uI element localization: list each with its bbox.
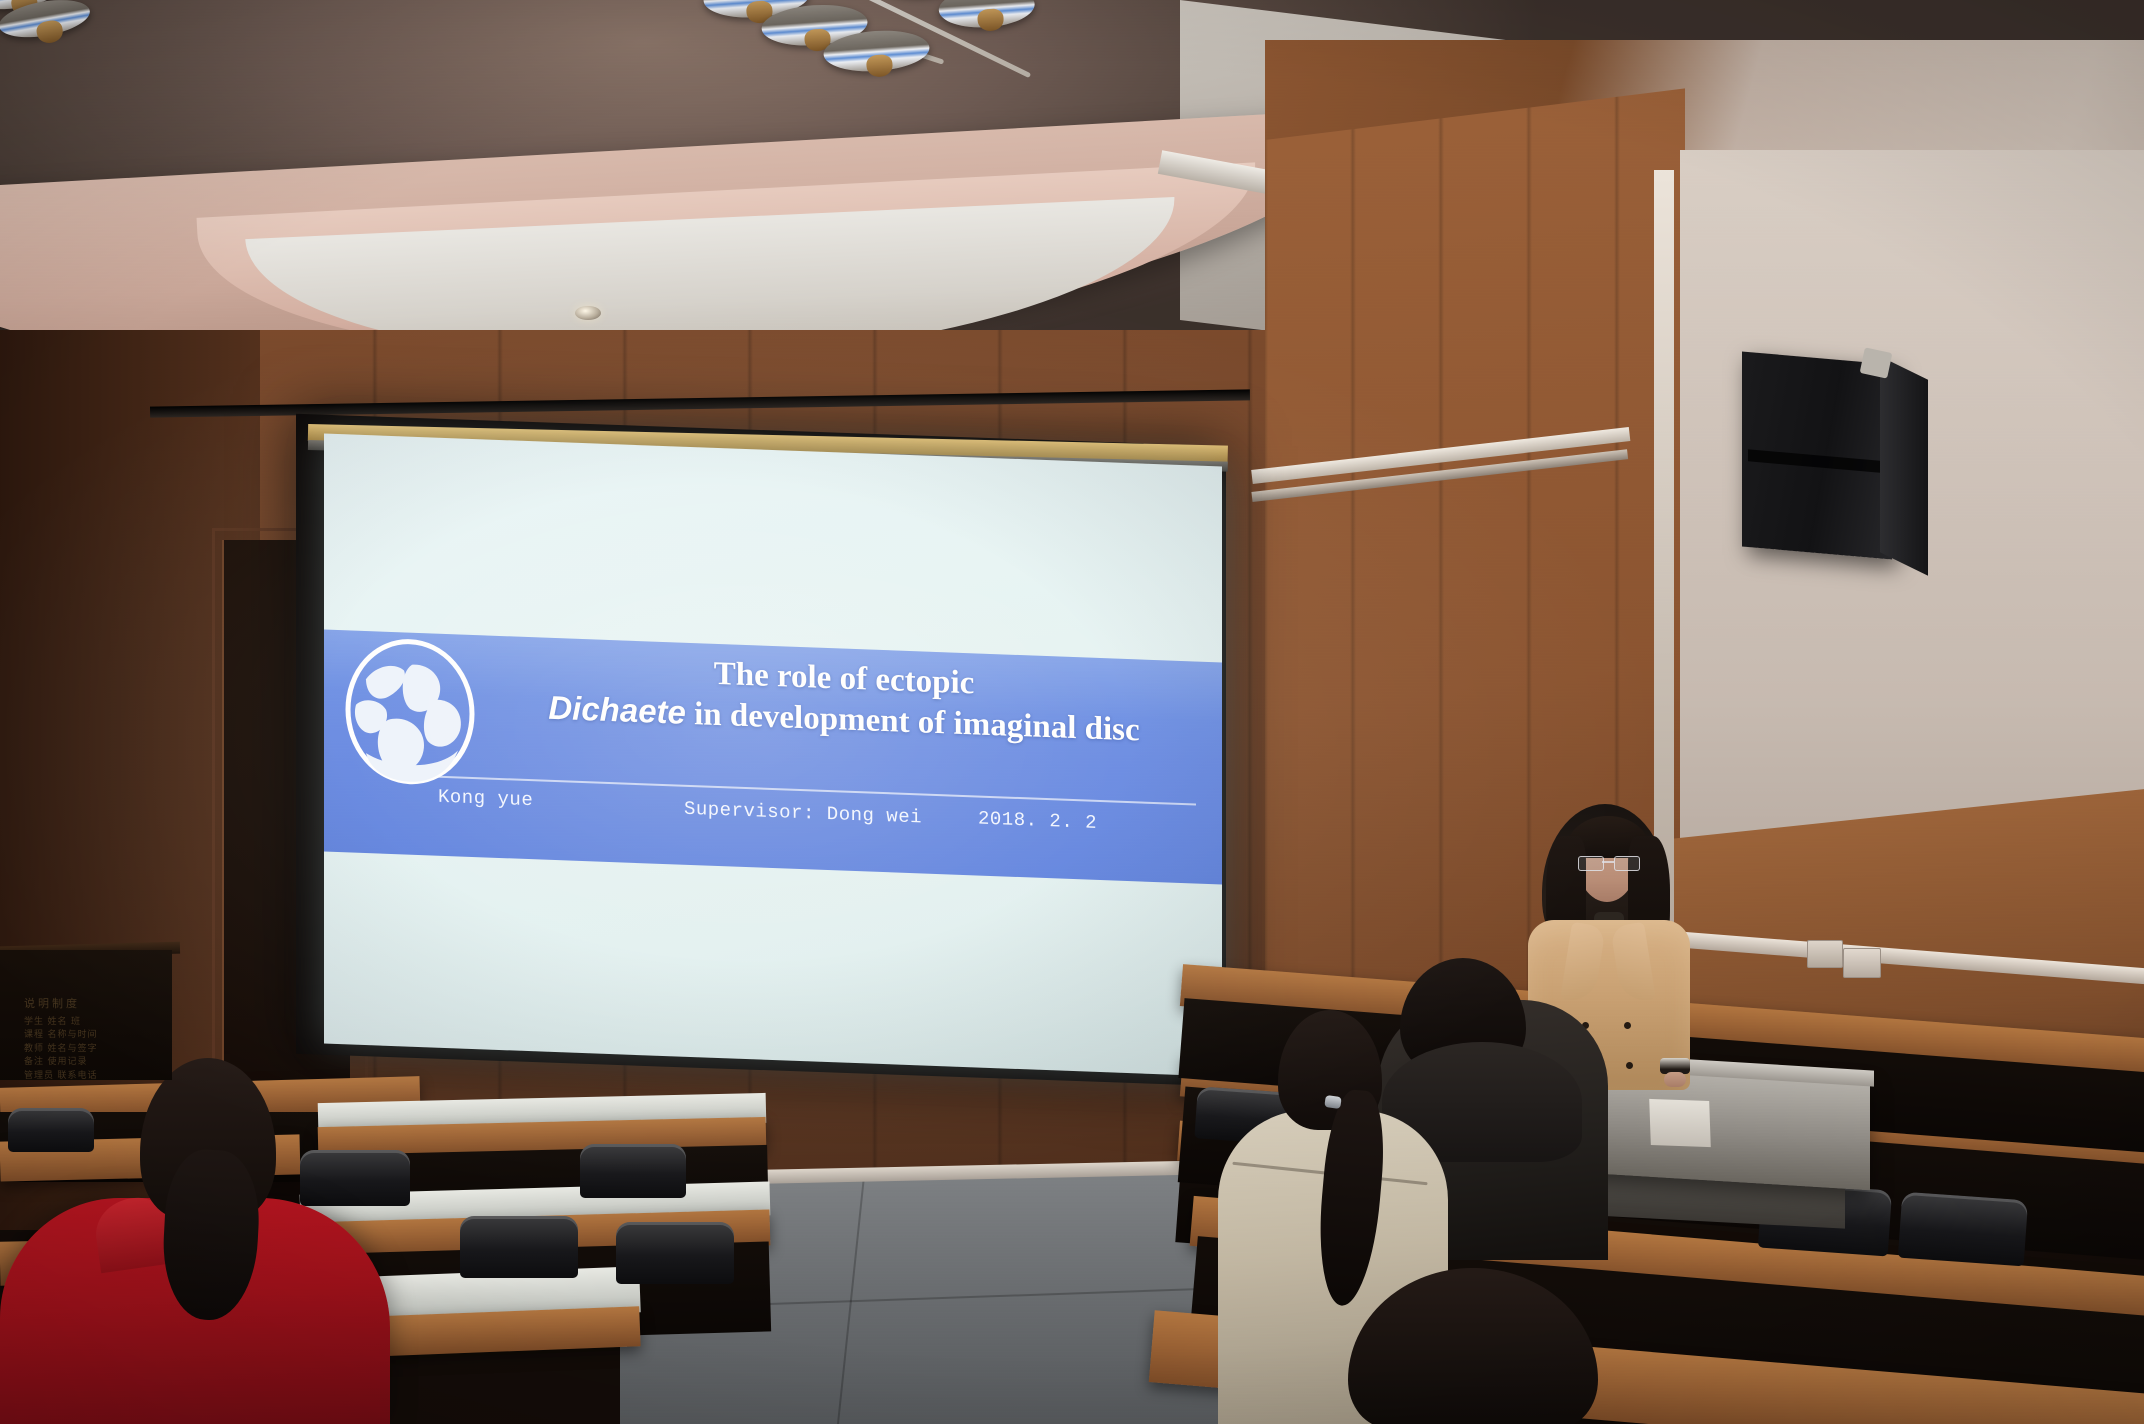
recessed-downlight xyxy=(575,306,601,320)
lecture-hall-scene: The role of ectopic Dichaete in developm… xyxy=(0,0,2144,1424)
slide-surface: The role of ectopic Dichaete in developm… xyxy=(324,434,1222,1077)
chair[interactable] xyxy=(1898,1192,2028,1267)
presenter-coat-button xyxy=(1624,1022,1631,1029)
speaker-bracket xyxy=(1860,347,1893,378)
power-outlet-plate[interactable] xyxy=(1843,948,1881,978)
presenter-coat-button xyxy=(1626,1062,1633,1069)
speaker-side-panel xyxy=(1880,356,1928,575)
lectern-notice-heading: 说明制度 xyxy=(24,996,154,1013)
audience-hair-tie xyxy=(1324,1095,1342,1109)
lectern-notice-text: 说明制度 学生 姓名 班 课程 名称与时间 教师 姓名与签字 备注 使用记录 管… xyxy=(24,996,154,1082)
lectern-notice-line: 课程 名称与时间 xyxy=(24,1029,98,1039)
presenter-glasses xyxy=(1578,856,1638,869)
chair[interactable] xyxy=(300,1150,410,1206)
podium-paper-sheet xyxy=(1649,1099,1711,1147)
chair[interactable] xyxy=(8,1108,94,1152)
slide-gene-name: Dichaete xyxy=(548,689,686,731)
projection-screen[interactable]: The role of ectopic Dichaete in developm… xyxy=(324,434,1222,1077)
imaginal-disc-cell-logo xyxy=(342,634,478,789)
lectern-notice-line: 备注 使用记录 xyxy=(24,1056,88,1066)
chair[interactable] xyxy=(580,1144,686,1198)
chair[interactable] xyxy=(460,1216,578,1278)
lectern-notice-line: 管理员 联系电话 xyxy=(24,1070,98,1080)
presenter-hand-right xyxy=(1664,1072,1686,1087)
lectern-notice-line: 教师 姓名与签字 xyxy=(24,1043,98,1053)
chair[interactable] xyxy=(616,1222,734,1284)
lectern-notice-line: 学生 姓名 班 xyxy=(24,1016,81,1026)
light-switch-plate[interactable] xyxy=(1807,940,1843,968)
